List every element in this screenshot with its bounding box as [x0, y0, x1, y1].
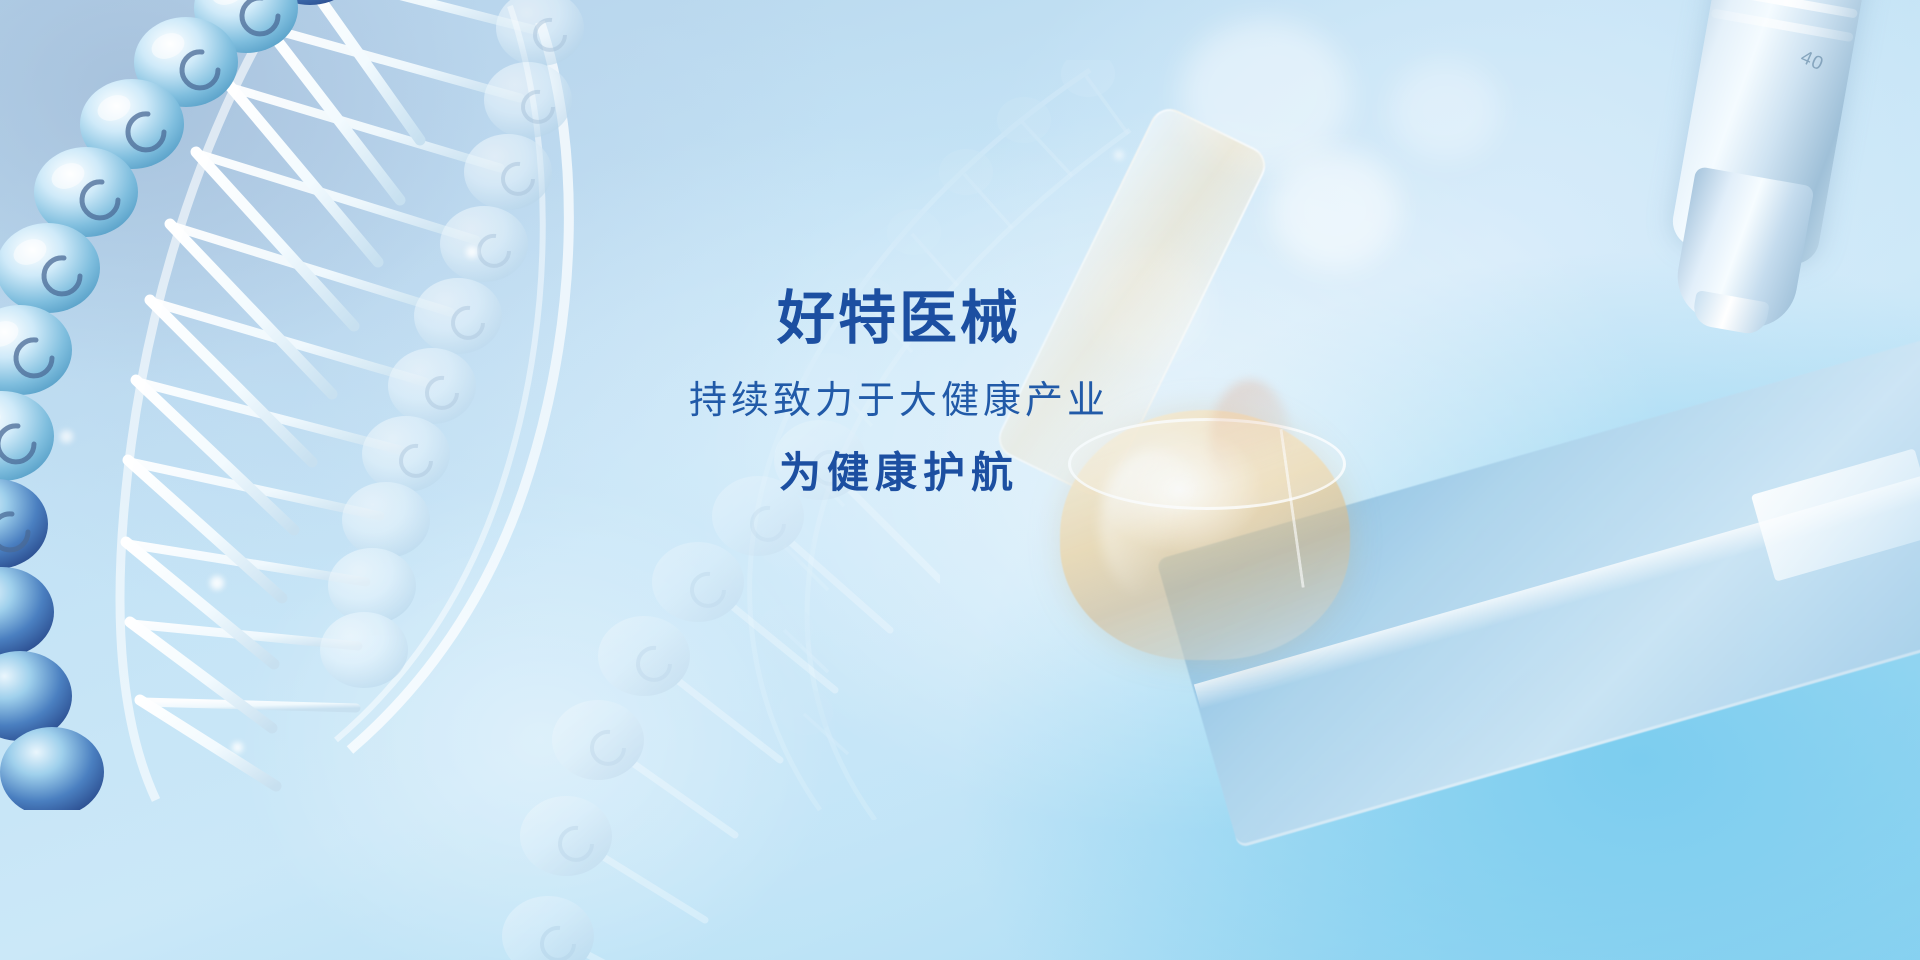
hero-banner: 40 — [0, 0, 1920, 960]
banner-subheadline: 持续致力于大健康产业 — [689, 381, 1109, 423]
banner-copy: 好特医械 持续致力于大健康产业 为健康护航 — [0, 0, 1920, 960]
banner-tagline: 为健康护航 — [779, 450, 1019, 496]
banner-headline: 好特医械 — [777, 288, 1021, 351]
